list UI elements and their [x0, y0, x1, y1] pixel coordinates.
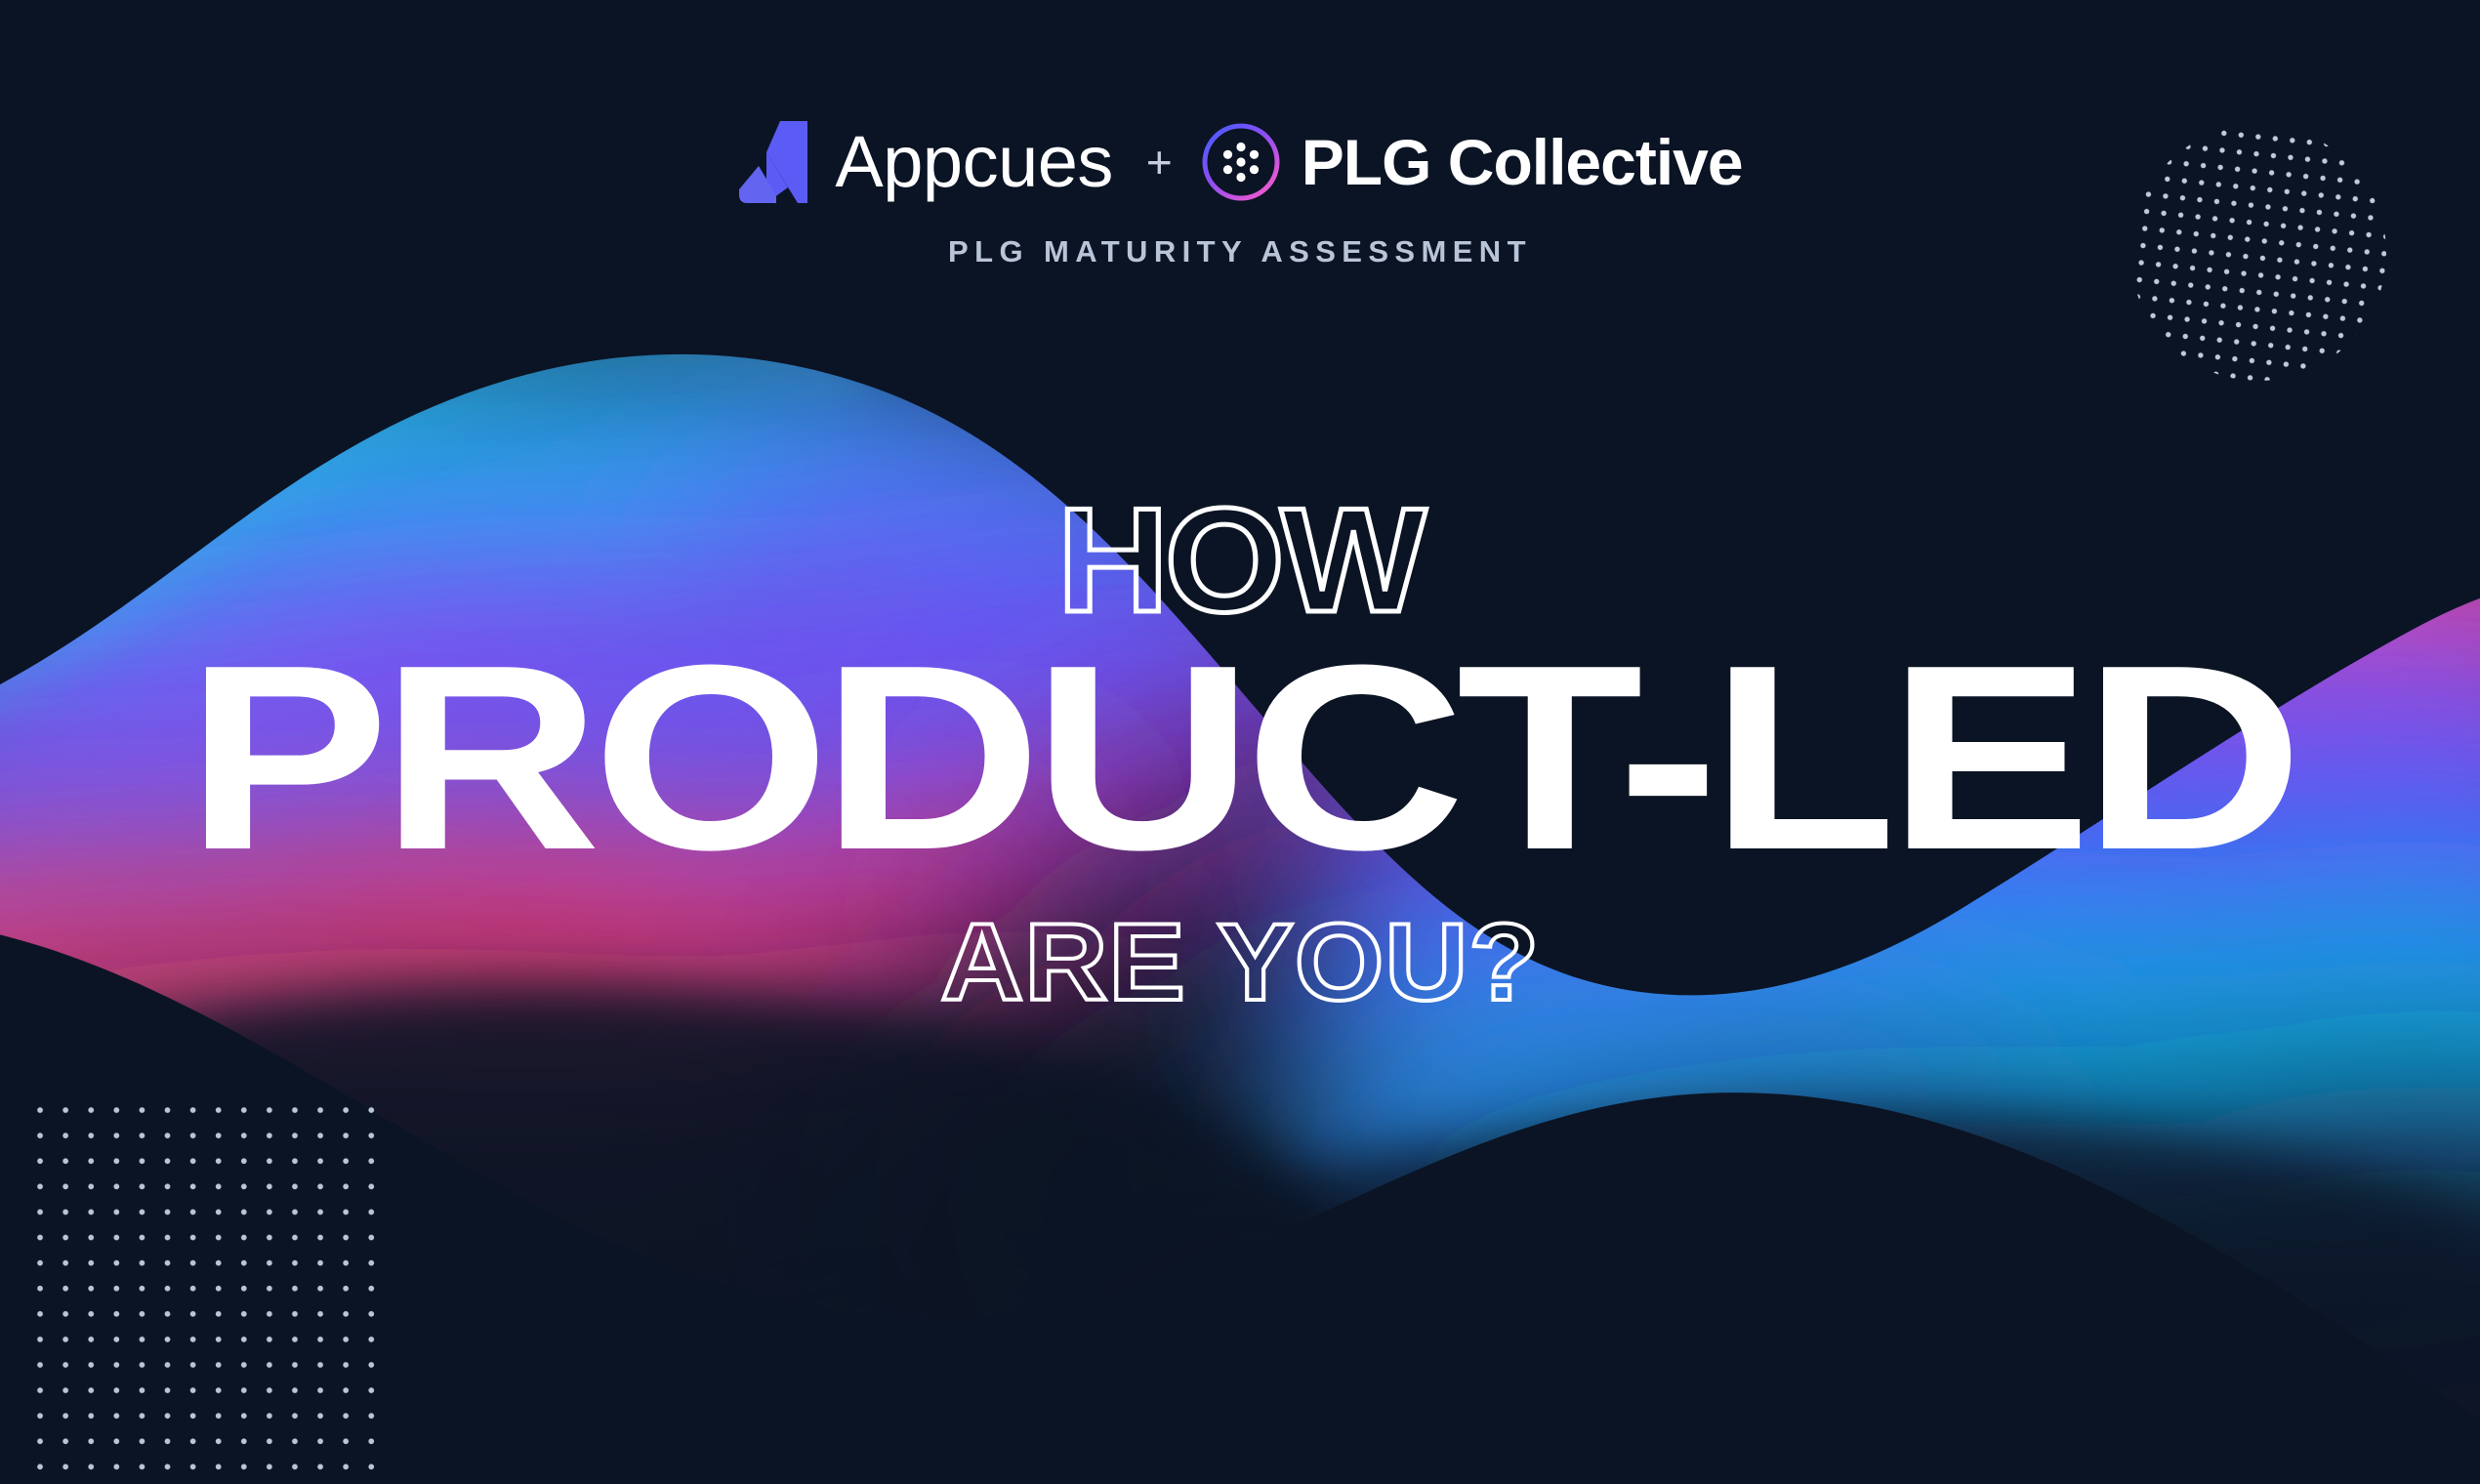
appcues-logo[interactable]: Appcues [737, 119, 1112, 205]
plg-collective-logo[interactable]: PLG Collective [1200, 121, 1743, 203]
logo-lockup: Appcues + [737, 115, 1742, 209]
dot-pattern-square-icon [21, 1092, 381, 1474]
appcues-a-mark-icon [737, 119, 813, 205]
appcues-wordmark: Appcues [835, 126, 1112, 198]
plus-separator-icon: + [1113, 140, 1200, 185]
plg-collective-dotted-circle-icon [1200, 121, 1282, 203]
hero-banner: Appcues + [0, 0, 2480, 1484]
eyebrow-label: PLG MATURITY ASSESSMENT [948, 236, 1532, 267]
brand-header: Appcues + [0, 115, 2480, 267]
plg-collective-wordmark: PLG Collective [1302, 130, 1743, 194]
